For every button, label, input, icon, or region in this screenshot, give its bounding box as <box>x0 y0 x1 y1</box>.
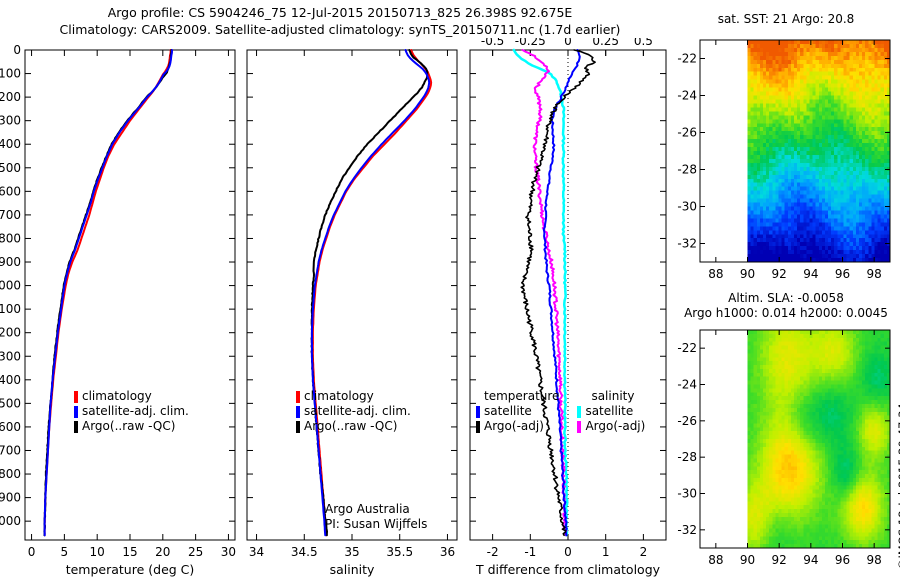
axis-text: 35.5 <box>386 545 413 559</box>
map-field <box>748 330 891 549</box>
plot-frame <box>25 50 235 540</box>
axis-text: 300 <box>0 114 21 128</box>
axis-text: 1700 <box>0 443 21 457</box>
axis-text: 0 <box>564 38 572 48</box>
axis-text: 2000 <box>0 514 21 528</box>
axis-text: 5 <box>61 545 69 559</box>
axis-text: temperature (deg C) <box>66 562 195 577</box>
axis-text: 900 <box>0 255 21 269</box>
axis-text: salinity <box>330 562 375 577</box>
axis-text: -24 <box>677 89 697 103</box>
axis-text: 1 <box>602 545 610 559</box>
legend-label: Argo(..raw -QC) <box>304 419 397 434</box>
axis-text: 500 <box>0 161 21 175</box>
difference-legend: temperature satellite Argo(-adj) salinit… <box>476 389 645 434</box>
legend-item: Argo(..raw -QC) <box>74 419 189 434</box>
legend-swatch-satellite <box>74 406 78 418</box>
salinity-plot: 3434.53535.536salinity <box>222 38 462 580</box>
legend-label: satellite-adj. clim. <box>304 404 411 419</box>
axis-text: -28 <box>677 163 697 177</box>
legend-swatch-climatology <box>296 391 300 403</box>
legend-label: Argo(-adj) <box>484 419 544 434</box>
axis-text: 96 <box>835 267 850 281</box>
difference-panel: -2-1012-0.5-0.2500.250.5T difference fro… <box>448 38 678 580</box>
axis-text: 100 <box>0 67 21 81</box>
axis-text: -26 <box>677 126 697 140</box>
legend-item: Argo(..raw -QC) <box>296 419 411 434</box>
annotation-line-2: PI: Susan Wijffels <box>325 517 427 532</box>
map-field <box>748 40 891 263</box>
annotation-line-1: Argo Australia <box>325 502 427 517</box>
axis-text: 0 <box>28 545 36 559</box>
sla-title-line-2: Argo h1000: 0.014 h2000: 0.0045 <box>672 306 900 321</box>
legend-swatch-climatology <box>74 391 78 403</box>
legend-swatch-satellite <box>296 406 300 418</box>
sst-map: 889092949698-22-24-26-28-30-32 <box>660 28 900 290</box>
legend-swatch-s-argo <box>577 421 581 433</box>
legend-label: Argo(..raw -QC) <box>82 419 175 434</box>
temperature-panel: 0510152025300100200300400500600700800900… <box>0 38 240 580</box>
axis-text: 1800 <box>0 467 21 481</box>
legend-item: satellite-adj. clim. <box>296 404 411 419</box>
sst-map-plot: 889092949698-22-24-26-28-30-32 <box>660 28 900 290</box>
temperature-plot: 0510152025300100200300400500600700800900… <box>0 38 240 580</box>
axis-text: 34 <box>249 545 264 559</box>
axis-text: 1900 <box>0 491 21 505</box>
axis-text: 1200 <box>0 326 21 340</box>
legend-label: satellite <box>484 404 532 419</box>
legend-swatch-argo <box>74 421 78 433</box>
axis-text: T difference from climatology <box>475 562 661 577</box>
legend-swatch-t-satellite <box>476 406 480 418</box>
legend-column-salinity: salinity satellite Argo(-adj) <box>577 389 645 434</box>
axis-text: 1000 <box>0 279 21 293</box>
axis-text: -30 <box>677 200 697 214</box>
axis-text: 0.25 <box>592 38 619 48</box>
legend-label: climatology <box>304 389 374 404</box>
axis-text: 1400 <box>0 373 21 387</box>
legend-item: satellite <box>476 404 559 419</box>
legend-header-salinity: salinity <box>577 389 645 404</box>
axis-text: 98 <box>867 267 882 281</box>
legend-item: climatology <box>296 389 411 404</box>
difference-plot: -2-1012-0.5-0.2500.250.5T difference fro… <box>448 38 678 580</box>
axis-text: 25 <box>188 545 203 559</box>
axis-text: 90 <box>740 267 755 281</box>
axis-text: 600 <box>0 184 21 198</box>
sst-map-title: sat. SST: 21 Argo: 20.8 <box>672 12 900 27</box>
axis-text: -22 <box>677 52 697 66</box>
legend-swatch-s-satellite <box>577 406 581 418</box>
axis-text: 0 <box>564 545 572 559</box>
axis-text: 0 <box>13 43 21 57</box>
sla-map-plot: 889092949698-22-24-26-28-30-32 <box>660 320 900 580</box>
legend-column-temperature: temperature satellite Argo(-adj) <box>476 389 559 434</box>
sla-map-title: Altim. SLA: -0.0058 Argo h1000: 0.014 h2… <box>672 291 900 321</box>
axis-text: 35 <box>344 545 359 559</box>
axis-text: 2 <box>640 545 648 559</box>
axis-text: 1600 <box>0 420 21 434</box>
legend-swatch-t-argo <box>476 421 480 433</box>
legend-item: satellite-adj. clim. <box>74 404 189 419</box>
salinity-panel: 3434.53535.536salinity <box>222 38 462 580</box>
legend-item: Argo(-adj) <box>476 419 559 434</box>
legend-item: Argo(-adj) <box>577 419 645 434</box>
axis-text: 200 <box>0 90 21 104</box>
axis-text: 34.5 <box>291 545 318 559</box>
axis-text: 700 <box>0 208 21 222</box>
axis-text: -0.25 <box>515 38 546 48</box>
axis-text: -1 <box>524 545 536 559</box>
axis-text: -32 <box>677 237 697 251</box>
salinity-legend: climatology satellite-adj. clim. Argo(..… <box>296 389 411 434</box>
legend-item: satellite <box>577 404 645 419</box>
legend-label: satellite <box>585 404 633 419</box>
legend-item: climatology <box>74 389 189 404</box>
axis-text: 92 <box>772 267 787 281</box>
legend-header-temperature: temperature <box>476 389 559 404</box>
title-line-1: Argo profile: CS 5904246_75 12-Jul-2015 … <box>0 4 680 21</box>
plot-frame <box>247 50 457 540</box>
legend-swatch-argo <box>296 421 300 433</box>
figure-title: Argo profile: CS 5904246_75 12-Jul-2015 … <box>0 4 680 38</box>
axis-text: 1300 <box>0 349 21 363</box>
axis-text: 400 <box>0 137 21 151</box>
axis-text: 20 <box>155 545 170 559</box>
axis-text: 94 <box>803 267 818 281</box>
sla-map: 889092949698-22-24-26-28-30-32 <box>660 320 900 580</box>
axis-text: 88 <box>708 267 723 281</box>
legend-label: Argo(-adj) <box>585 419 645 434</box>
temperature-legend: climatology satellite-adj. clim. Argo(..… <box>74 389 189 434</box>
argo-australia-annotation: Argo Australia PI: Susan Wijffels <box>325 502 427 532</box>
axis-text: 1500 <box>0 396 21 410</box>
sla-title-line-1: Altim. SLA: -0.0058 <box>672 291 900 306</box>
axis-text: 15 <box>122 545 137 559</box>
title-line-2: Climatology: CARS2009. Satellite-adjuste… <box>0 21 680 38</box>
axis-text: 0.5 <box>634 38 653 48</box>
axis-text: -2 <box>487 545 499 559</box>
legend-label: climatology <box>82 389 152 404</box>
axis-text: 1100 <box>0 302 21 316</box>
legend-label: satellite-adj. clim. <box>82 404 189 419</box>
axis-text: 800 <box>0 231 21 245</box>
axis-text: 10 <box>90 545 105 559</box>
axis-text: -0.5 <box>481 38 504 48</box>
